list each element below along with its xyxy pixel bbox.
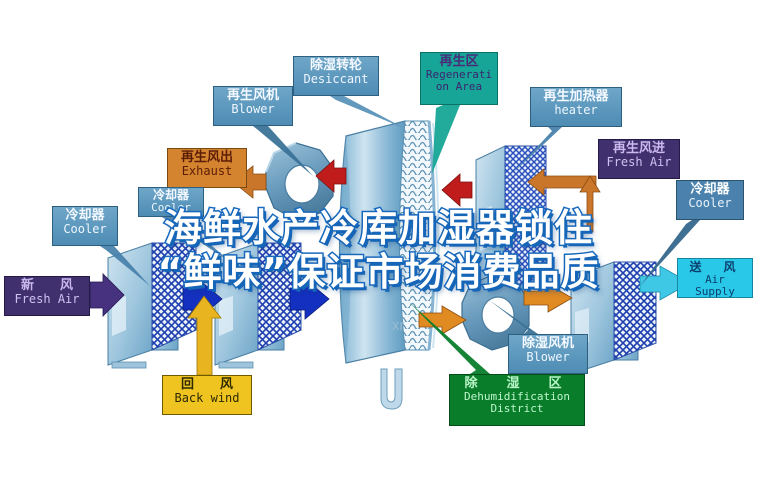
label-en: Dehumidification District [454, 391, 580, 415]
label-desiccant-wheel: 除湿转轮 Desiccant [293, 56, 379, 96]
label-cn: 再生风机 [218, 89, 288, 103]
label-cn: 除湿风机 [513, 337, 583, 351]
label-cn: 冷却器 [143, 189, 199, 202]
label-cn: 除湿转轮 [298, 59, 374, 73]
label-en: heater [535, 104, 617, 117]
label-regeneration-air-in: 再生风进 Fresh Air [598, 139, 680, 179]
svg-text:xr: xr [392, 317, 405, 334]
label-en: Regenerati on Area [425, 69, 493, 93]
label-dehumidification-blower: 除湿风机 Blower [508, 334, 588, 374]
label-en: Fresh Air [603, 156, 675, 169]
label-back-wind: 回 风 Back wind [162, 375, 252, 415]
label-en: Blower [218, 103, 288, 116]
label-cn: 除 湿 区 [454, 377, 580, 391]
label-cn: 再生区 [425, 55, 493, 69]
label-cn: 冷却器 [681, 183, 739, 197]
regen-hot-air-arrow-2 [442, 174, 472, 206]
label-regeneration-area: 再生区 Regenerati on Area [420, 52, 498, 105]
diagram-canvas: xr [0, 0, 757, 488]
label-cn: 回 风 [167, 378, 247, 392]
label-cn: 再生风进 [603, 142, 675, 156]
label-regeneration-exhaust: 再生风出 Exhaust [167, 148, 247, 188]
label-regeneration-blower: 再生风机 Blower [213, 86, 293, 126]
title-line-2: “鲜味”保证市场消费品质 [0, 250, 757, 294]
title-line-1: 海鲜水产冷库加湿器锁住 [0, 206, 757, 250]
label-en: Back wind [167, 392, 247, 405]
label-en: Blower [513, 351, 583, 364]
label-en: Fresh Air [9, 293, 85, 306]
label-en: Desiccant [298, 73, 374, 86]
label-dehumidification-area: 除 湿 区 Dehumidification District [449, 374, 585, 426]
page-title: 海鲜水产冷库加湿器锁住 “鲜味”保证市场消费品质 [0, 206, 757, 294]
label-cn: 再生加热器 [535, 90, 617, 104]
label-en: Exhaust [172, 165, 242, 178]
label-regeneration-heater: 再生加热器 heater [530, 87, 622, 127]
label-cn: 再生风出 [172, 151, 242, 165]
